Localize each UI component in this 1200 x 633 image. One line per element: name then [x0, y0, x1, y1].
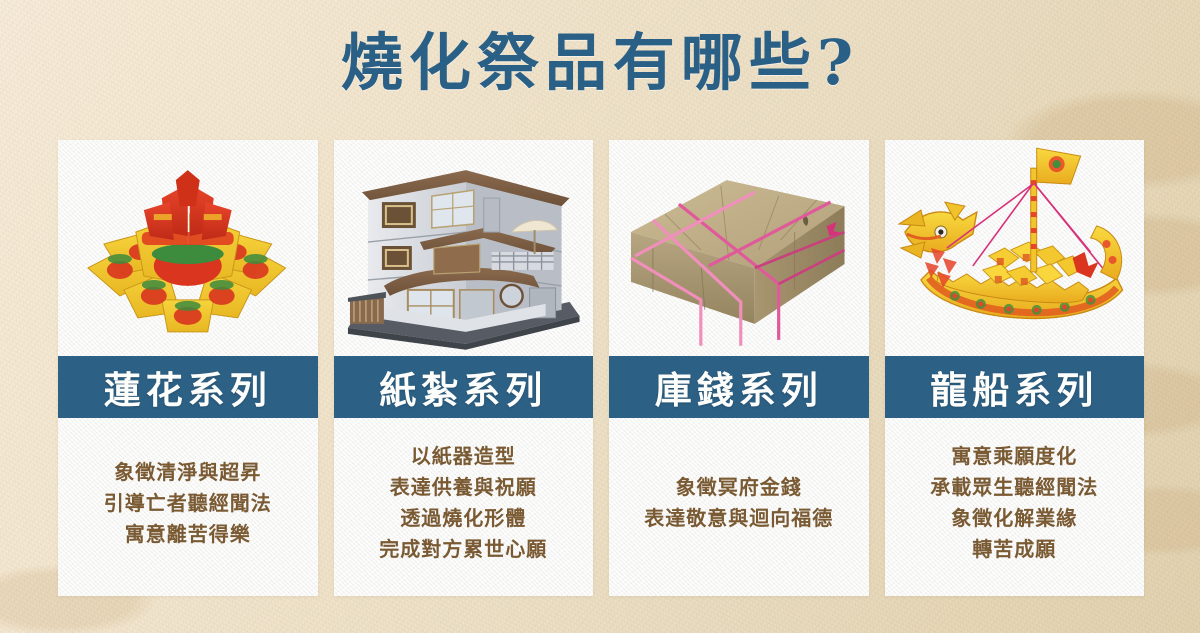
poster-canvas: 燒化祭品有哪些?	[0, 0, 1200, 633]
card-body-line: 象徵化解業緣	[951, 503, 1077, 534]
card-heading-band-treasury-money: 庫錢系列	[609, 356, 869, 418]
card-body-line: 象徵清淨與超昇	[114, 457, 261, 488]
card-heading-treasury-money: 庫錢系列	[655, 360, 823, 414]
card-body-line: 寓意乘願度化	[951, 441, 1077, 472]
card-heading-dragon-boat: 龍船系列	[930, 360, 1098, 414]
card-body-line: 透過燒化形體	[400, 503, 526, 534]
card-heading-band-paper-effigy: 紙紮系列	[334, 356, 594, 418]
paper-dragon-boat-photo	[885, 140, 1145, 356]
page-title: 燒化祭品有哪些?	[0, 12, 1200, 102]
paper-money-bundle-photo	[609, 140, 869, 356]
paper-house-model-photo	[334, 140, 594, 356]
card-paper-effigy[interactable]: 紙紮系列 以紙器造型 表達供養與祝願 透過燒化形體 完成對方累世心願	[334, 140, 594, 596]
card-heading-lotus: 蓮花系列	[104, 360, 272, 414]
card-body-line: 承載眾生聽經聞法	[930, 472, 1098, 503]
card-body-line: 表達敬意與迴向福德	[644, 503, 833, 534]
paper-lotus-flower-photo	[58, 140, 318, 356]
card-body-lotus: 象徵清淨與超昇 引導亡者聽經聞法 寓意離苦得樂	[58, 418, 318, 596]
card-body-treasury-money: 象徵冥府金錢 表達敬意與迴向福德	[609, 418, 869, 596]
card-grid: 蓮花系列 象徵清淨與超昇 引導亡者聽經聞法 寓意離苦得樂	[58, 140, 1144, 596]
card-body-line: 象徵冥府金錢	[676, 472, 802, 503]
card-body-line: 引導亡者聽經聞法	[104, 488, 272, 519]
card-body-line: 寓意離苦得樂	[125, 519, 251, 550]
card-body-dragon-boat: 寓意乘願度化 承載眾生聽經聞法 象徵化解業緣 轉苦成願	[885, 418, 1145, 596]
card-body-line: 完成對方累世心願	[379, 534, 547, 565]
card-treasury-money[interactable]: 庫錢系列 象徵冥府金錢 表達敬意與迴向福德	[609, 140, 869, 596]
card-heading-paper-effigy: 紙紮系列	[379, 360, 547, 414]
card-body-line: 以紙器造型	[411, 441, 516, 472]
card-body-line: 轉苦成願	[972, 534, 1056, 565]
card-heading-band-dragon-boat: 龍船系列	[885, 356, 1145, 418]
card-heading-band-lotus: 蓮花系列	[58, 356, 318, 418]
card-body-paper-effigy: 以紙器造型 表達供養與祝願 透過燒化形體 完成對方累世心願	[334, 418, 594, 596]
card-dragon-boat[interactable]: 龍船系列 寓意乘願度化 承載眾生聽經聞法 象徵化解業緣 轉苦成願	[885, 140, 1145, 596]
card-lotus[interactable]: 蓮花系列 象徵清淨與超昇 引導亡者聽經聞法 寓意離苦得樂	[58, 140, 318, 596]
card-body-line: 表達供養與祝願	[390, 472, 537, 503]
